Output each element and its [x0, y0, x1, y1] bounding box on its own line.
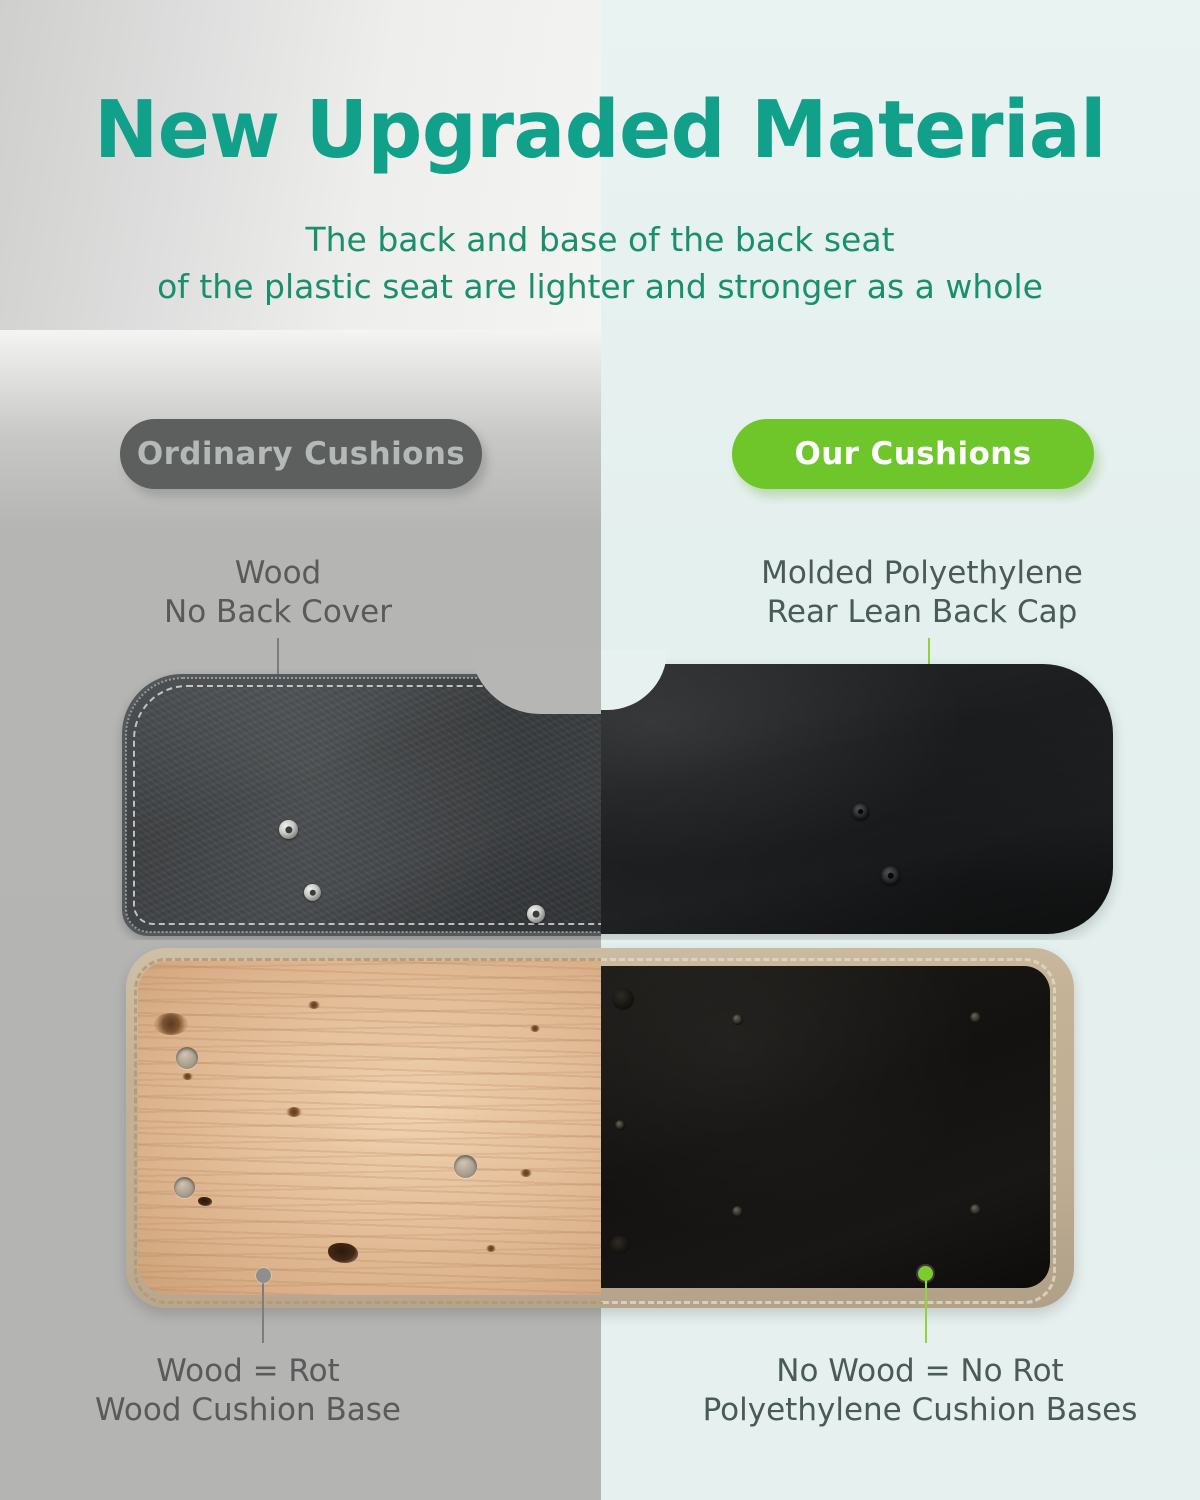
badge-ordinary-cushions[interactable]: Ordinary Cushions	[120, 419, 482, 489]
poly-screw-mid-left	[615, 1120, 625, 1130]
ordinary-back-clip	[0, 650, 601, 940]
top-row-artwork	[0, 650, 1200, 940]
grommet-upper	[279, 820, 298, 839]
bottom-row-artwork	[0, 948, 1200, 1314]
drill-hole-2	[174, 1177, 195, 1198]
drill-hole-3	[454, 1155, 477, 1178]
callout-right-top-line-1: Molded Polyethylene	[722, 554, 1122, 593]
polyethylene-cushion-base	[601, 966, 1050, 1288]
cushion-base-split	[126, 948, 1074, 1308]
wood-knot-1	[154, 1013, 188, 1035]
callout-left-top-line-2: No Back Cover	[78, 593, 478, 632]
callout-left-top: Wood No Back Cover	[78, 554, 478, 632]
wood-gash-1	[328, 1243, 358, 1263]
callout-right-bottom-line-2: Polyethylene Cushion Bases	[680, 1391, 1160, 1430]
badge-our-cushions[interactable]: Our Cushions	[732, 419, 1094, 489]
infographic-canvas: New Upgraded Material The back and base …	[0, 0, 1200, 1500]
callout-left-bottom: Wood = Rot Wood Cushion Base	[48, 1352, 448, 1430]
poly-screw-top-right	[970, 1012, 981, 1023]
subtitle-line-2: of the plastic seat are lighter and stro…	[0, 263, 1200, 310]
our-cap-clip	[601, 650, 1200, 940]
marker-dot-right-bottom	[918, 1266, 933, 1281]
callout-right-bottom-line-1: No Wood = No Rot	[680, 1352, 1160, 1391]
callout-right-top: Molded Polyethylene Rear Lean Back Cap	[722, 554, 1122, 632]
poly-corner-boss-lower	[610, 1236, 630, 1254]
leader-line-left-bottom	[262, 1277, 264, 1343]
poly-screw-bottom-right	[970, 1204, 981, 1215]
wood-knot-6	[520, 1169, 532, 1177]
drill-hole-1	[176, 1047, 198, 1069]
wood-gash-2	[198, 1197, 212, 1206]
marker-dot-left-bottom	[256, 1268, 271, 1283]
wood-knot-3	[182, 1073, 193, 1080]
callout-left-bottom-line-2: Wood Cushion Base	[48, 1391, 448, 1430]
plywood-cushion-base	[138, 961, 601, 1295]
cushion-base-binding	[126, 948, 1074, 1308]
poly-screw-top-left	[732, 1014, 743, 1025]
cap-screw-lower	[881, 866, 900, 885]
wood-knot-2	[308, 1001, 320, 1009]
grommet-lower	[304, 884, 321, 901]
poly-corner-boss	[612, 988, 634, 1010]
callout-left-top-line-1: Wood	[78, 554, 478, 593]
leader-line-right-bottom	[925, 1277, 927, 1343]
grommet-edge	[527, 905, 545, 923]
molded-polyethylene-back-cap	[601, 664, 1113, 934]
cap-screw-upper	[852, 803, 869, 820]
callout-left-bottom-line-1: Wood = Rot	[48, 1352, 448, 1391]
wood-knot-5	[530, 1025, 540, 1032]
subtitle-line-1: The back and base of the back seat	[0, 216, 1200, 263]
left-panel-header-gradient	[0, 0, 601, 380]
page-subtitle: The back and base of the back seat of th…	[0, 216, 1200, 310]
vinyl-texture	[136, 688, 601, 922]
callout-right-top-line-2: Rear Lean Back Cap	[722, 593, 1122, 632]
poly-screw-bottom-left	[732, 1206, 743, 1217]
wood-knot-4	[286, 1107, 302, 1117]
callout-right-bottom: No Wood = No Rot Polyethylene Cushion Ba…	[680, 1352, 1160, 1430]
wood-knot-7	[486, 1245, 496, 1252]
page-title: New Upgraded Material	[18, 88, 1182, 172]
